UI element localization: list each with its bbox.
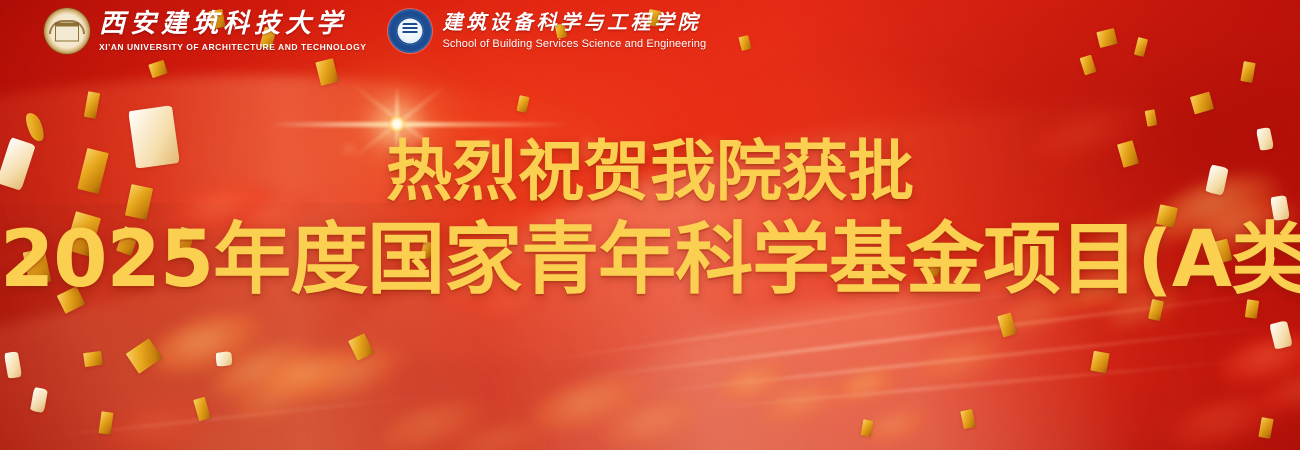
header-logos: 西安建筑科技大学 XI'AN UNIVERSITY OF ARCHITECTUR… [0,0,706,62]
headline-line-2: 2025年度国家青年科学基金项目(A类) [0,221,1300,301]
college-name-en: School of Building Services Science and … [442,38,706,50]
xauat-seal-icon [44,8,90,54]
confetti-piece [83,351,103,367]
confetti-piece [215,351,233,367]
headline-line-1: 热烈祝贺我院获批 [0,138,1300,205]
college-logo-block: 建筑设备科学与工程学院 School of Building Services … [388,9,706,53]
headline-block: 热烈祝贺我院获批 2025年度国家青年科学基金项目(A类) [0,138,1300,301]
university-name-en: XI'AN UNIVERSITY OF ARCHITECTURE AND TEC… [99,42,366,52]
university-logo-block: 西安建筑科技大学 XI'AN UNIVERSITY OF ARCHITECTUR… [44,8,366,54]
celebration-banner: 西安建筑科技大学 XI'AN UNIVERSITY OF ARCHITECTUR… [0,0,1300,450]
confetti-piece [1090,351,1109,373]
college-seal-icon [388,9,432,53]
college-name-cn: 建筑设备科学与工程学院 [442,13,706,33]
university-name-cn: 西安建筑科技大学 [99,11,366,37]
